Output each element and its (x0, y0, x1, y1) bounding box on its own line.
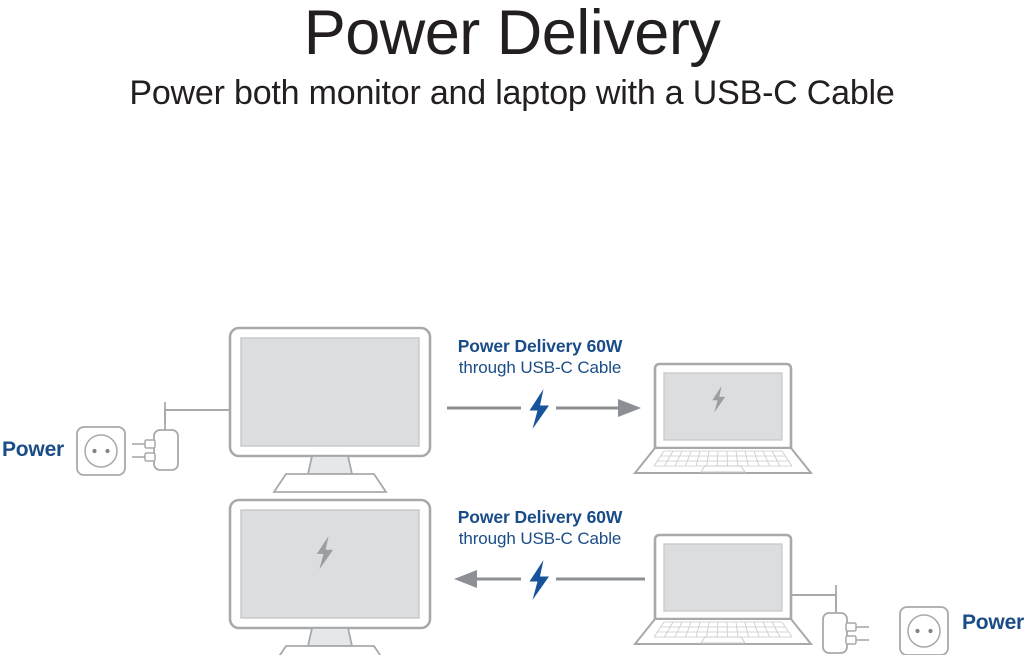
power-label-left: Power (2, 438, 64, 462)
lightning-bolt-icon-top-link (530, 389, 550, 429)
cable-icon-bottom (792, 595, 836, 613)
diagram-canvas: Power Delivery Power both monitor and la… (0, 0, 1024, 655)
wall-socket-icon-bottom (900, 607, 948, 655)
power-adapter-icon-top (132, 402, 178, 470)
monitor-icon-top (230, 328, 430, 492)
cable-icon-top (165, 410, 233, 424)
callout-top: Power Delivery 60W through USB-C Cable (425, 336, 655, 378)
callout-bottom: Power Delivery 60W through USB-C Cable (425, 507, 655, 549)
lightning-bolt-icon-bottom-link (530, 560, 550, 600)
page-subtitle: Power both monitor and laptop with a USB… (0, 72, 1024, 114)
callout-bottom-line2: through USB-C Cable (425, 528, 655, 549)
callout-top-line1: Power Delivery 60W (425, 336, 655, 357)
laptop-icon-bottom (635, 535, 811, 644)
laptop-icon-top (635, 364, 811, 473)
arrow-icon-bottom (454, 570, 645, 588)
power-label-right: Power (962, 611, 1024, 635)
callout-bottom-line1: Power Delivery 60W (425, 507, 655, 528)
wall-socket-icon-top (77, 427, 125, 475)
page-title: Power Delivery (0, 0, 1024, 68)
monitor-icon-bottom (230, 500, 430, 655)
callout-top-line2: through USB-C Cable (425, 357, 655, 378)
